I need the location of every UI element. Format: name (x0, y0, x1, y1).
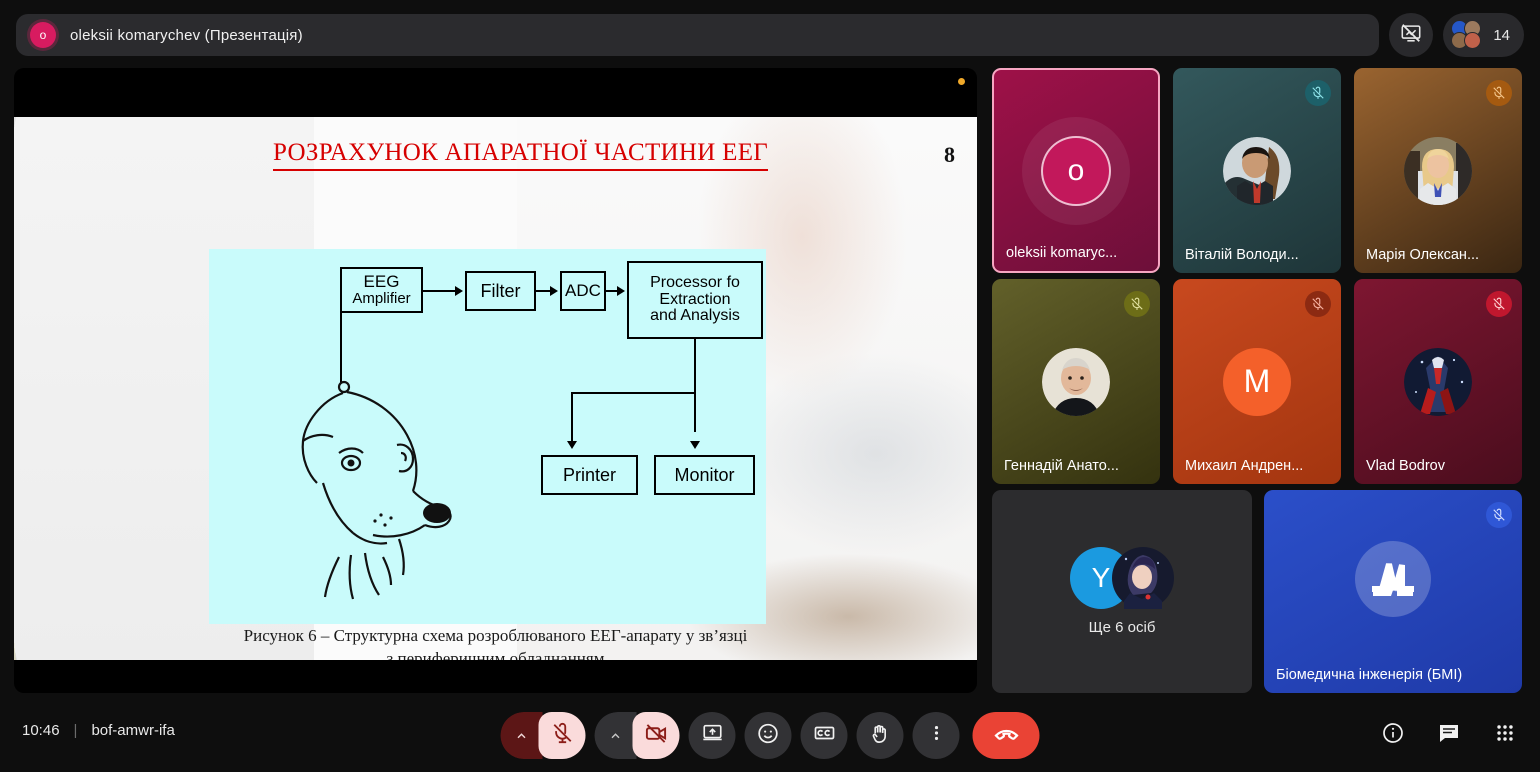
more-participants-label: Ще 6 осіб (1089, 619, 1156, 636)
diagram-box-adc: ADC (560, 271, 606, 311)
diagram-box-processor-line2: Extraction (659, 292, 730, 309)
diagram-connector-electrode (340, 313, 342, 387)
diagram-arrow-2 (550, 286, 558, 296)
more-participants-avatars: Y (1070, 547, 1174, 609)
mic-off-icon (551, 722, 573, 749)
present-stop-icon (1400, 22, 1422, 49)
avatar (1112, 547, 1174, 609)
closed-captions-icon (812, 721, 836, 750)
participant-tile-bmi[interactable]: Біомедична інженерія (БМІ) (1264, 490, 1522, 693)
emoji-smile-icon (757, 722, 780, 750)
info-icon (1381, 721, 1405, 750)
mic-options-chevron[interactable] (501, 712, 543, 759)
mute-badge (1486, 502, 1512, 528)
reactions-button[interactable] (745, 712, 792, 759)
participant-tile-mikhail[interactable]: M Михаил Андрен... (1173, 279, 1341, 484)
diagram-box-filter: Filter (465, 271, 536, 311)
avatar-initial: o (1041, 136, 1111, 206)
presenter-label: oleksii komarychev (Презентація) (70, 27, 303, 44)
dog-sketch-icon (299, 379, 499, 609)
end-call-button[interactable] (973, 712, 1040, 759)
activities-button[interactable] (1490, 720, 1520, 750)
present-screen-icon (701, 722, 723, 749)
diagram-box-monitor: Monitor (654, 455, 755, 495)
more-participants-tile[interactable]: Y Ще 6 осіб (992, 490, 1252, 693)
participant-name: Михаил Андрен... (1185, 458, 1331, 474)
participant-tile-gennadii[interactable]: Геннадій Анато... (992, 279, 1160, 484)
participant-name: Геннадій Анато... (1004, 458, 1150, 474)
meeting-details-button[interactable] (1378, 720, 1408, 750)
block-diagram: EEG Amplifier Filter ADC Processor fo Ex… (209, 249, 766, 624)
participant-grid: o oleksii komaryc... Віталій Володи... (992, 68, 1526, 693)
participant-name: Віталій Володи... (1185, 247, 1331, 263)
mute-badge (1486, 291, 1512, 317)
diagram-arrow-3 (617, 286, 625, 296)
waveform-logo-icon (1355, 541, 1431, 617)
diagram-connector-4 (694, 339, 696, 432)
camera-control-group (595, 712, 680, 759)
top-bar: o oleksii komarychev (Презентація) 14 (0, 0, 1540, 70)
meeting-time: 10:46 (22, 722, 60, 739)
camera-toggle[interactable] (633, 712, 680, 759)
participant-name: Vlad Bodrov (1366, 458, 1512, 474)
avatar (1404, 348, 1472, 416)
participant-tile-self[interactable]: o oleksii komaryc... (992, 68, 1160, 273)
captions-button[interactable] (801, 712, 848, 759)
meeting-meta: 10:46 | bof-amwr-ifa (22, 722, 175, 739)
mute-badge (1305, 291, 1331, 317)
mic-control-group (501, 712, 586, 759)
slide-content: РОЗРАХУНОК АПАРАТНОЇ ЧАСТИНИ ЕЕГ 8 EEG A… (14, 117, 977, 660)
camera-off-icon (645, 722, 668, 750)
diagram-arrow-printer (567, 441, 577, 449)
avatar (1223, 137, 1291, 205)
stop-presenting-button[interactable] (1389, 13, 1433, 57)
slide-caption-line1: Рисунок 6 – Структурна схема розроблюван… (14, 625, 977, 648)
slide-title: РОЗРАХУНОК АПАРАТНОЇ ЧАСТИНИ ЕЕГ (273, 139, 768, 171)
diagram-box-eeg-line2: Amplifier (352, 291, 410, 307)
meta-separator: | (74, 722, 78, 739)
diagram-box-printer: Printer (541, 455, 638, 495)
present-button[interactable] (689, 712, 736, 759)
mute-badge (1124, 291, 1150, 317)
diagram-connector-6 (571, 392, 573, 442)
raised-hand-icon (869, 722, 892, 750)
participant-name: oleksii komaryc... (1006, 245, 1148, 261)
more-options-button[interactable] (913, 712, 960, 759)
bottom-bar: 10:46 | bof-amwr-ifa (0, 700, 1540, 772)
diagram-box-processor-line1: Processor fo (650, 275, 740, 292)
chat-button[interactable] (1434, 720, 1464, 750)
participant-name: Марія Олексан... (1366, 247, 1512, 263)
right-controls (1378, 720, 1520, 750)
diagram-connector-5 (571, 392, 696, 394)
avatar: o (1022, 117, 1130, 225)
end-call-icon (992, 719, 1020, 752)
participant-tile-vlad[interactable]: Vlad Bodrov (1354, 279, 1522, 484)
camera-options-chevron[interactable] (595, 712, 637, 759)
more-vertical-icon (926, 723, 946, 748)
slide-caption-line2: з периферичним обладнанням (14, 648, 977, 660)
chat-bubble-icon (1437, 721, 1461, 750)
slide-caption: Рисунок 6 – Структурна схема розроблюван… (14, 625, 977, 660)
meeting-code: bof-amwr-ifa (91, 722, 174, 739)
grid-apps-icon (1494, 722, 1516, 749)
diagram-connector-1 (423, 290, 457, 292)
participant-tile-vitalii[interactable]: Віталій Володи... (1173, 68, 1341, 273)
avatar (1404, 137, 1472, 205)
participant-tile-mariia[interactable]: Марія Олексан... (1354, 68, 1522, 273)
presenter-avatar: o (30, 22, 56, 48)
avatar-initial: M (1223, 348, 1291, 416)
presentation-stage[interactable]: РОЗРАХУНОК АПАРАТНОЇ ЧАСТИНИ ЕЕГ 8 EEG A… (14, 68, 977, 693)
diagram-box-eeg-amplifier: EEG Amplifier (340, 267, 423, 313)
call-controls (501, 712, 1040, 759)
raise-hand-button[interactable] (857, 712, 904, 759)
mute-badge (1305, 80, 1331, 106)
slide-number: 8 (944, 142, 955, 168)
mute-badge (1486, 80, 1512, 106)
participant-name: Біомедична інженерія (БМІ) (1276, 667, 1512, 683)
participants-count-button[interactable]: 14 (1443, 13, 1524, 57)
diagram-arrow-monitor (690, 441, 700, 449)
diagram-box-processor-line3: and Analysis (650, 308, 740, 325)
participants-avatars-icon (1451, 20, 1485, 50)
mic-toggle[interactable] (539, 712, 586, 759)
presenting-banner[interactable]: o oleksii komarychev (Презентація) (16, 14, 1379, 56)
diagram-box-eeg-line1: EEG (364, 273, 400, 291)
diagram-arrow-1 (455, 286, 463, 296)
avatar (1042, 348, 1110, 416)
diagram-box-processor: Processor fo Extraction and Analysis (627, 261, 763, 339)
recording-indicator-dot (958, 78, 965, 85)
participants-count: 14 (1493, 27, 1510, 44)
